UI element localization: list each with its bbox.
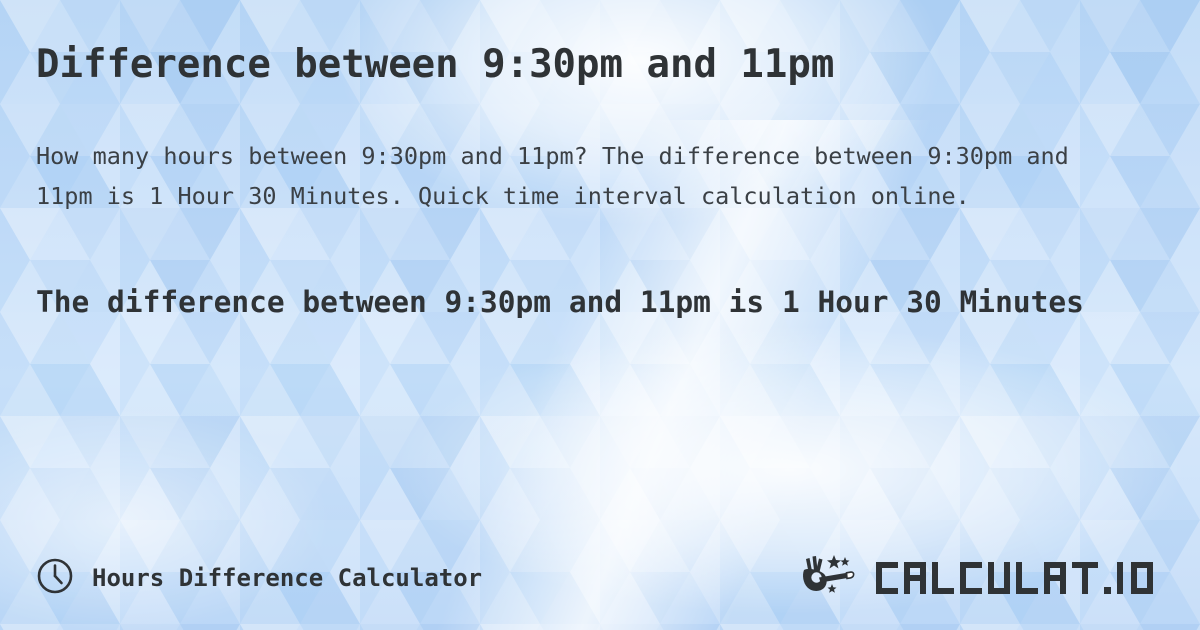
clock-icon: [36, 557, 74, 599]
hand-magic-wand-icon: [798, 551, 864, 605]
footer: Hours Difference Calculator: [36, 554, 1176, 602]
description-text: How many hours between 9:30pm and 11pm? …: [36, 89, 1106, 216]
content-area: Difference between 9:30pm and 11pm How m…: [0, 0, 1200, 630]
og-image-card: Difference between 9:30pm and 11pm How m…: [0, 0, 1200, 630]
answer-statement: The difference between 9:30pm and 11pm i…: [36, 216, 1116, 326]
brand-logo[interactable]: [798, 551, 1176, 605]
footer-calculator-link[interactable]: Hours Difference Calculator: [36, 557, 482, 599]
brand-name: [874, 558, 1164, 598]
page-title: Difference between 9:30pm and 11pm: [36, 0, 1164, 89]
footer-calculator-label: Hours Difference Calculator: [92, 564, 482, 592]
